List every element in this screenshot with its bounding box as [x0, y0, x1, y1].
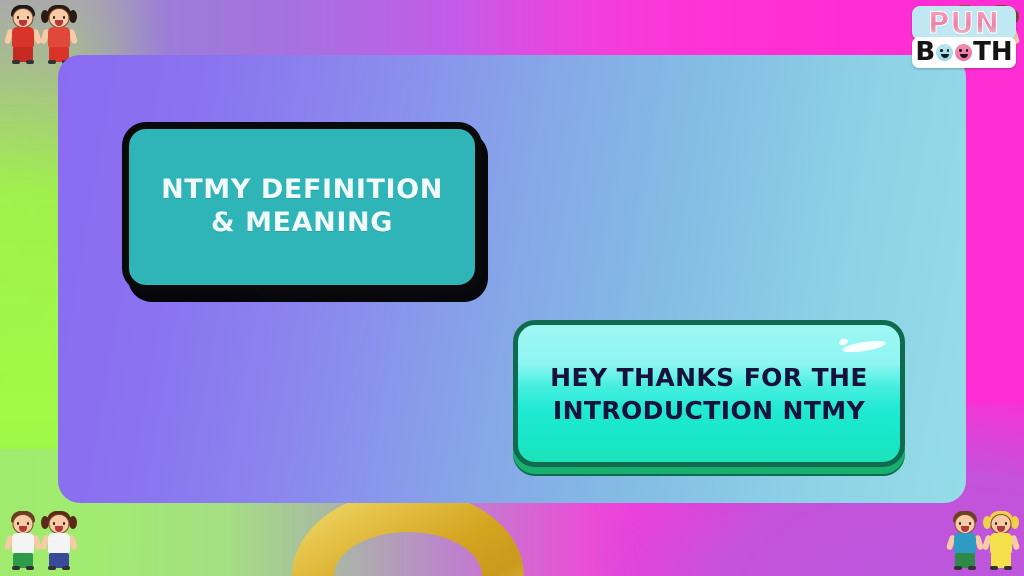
- child-figure: [42, 510, 76, 570]
- torso: [990, 533, 1012, 554]
- answer-text: HEY THANKS FOR THE INTRODUCTION NTMY: [532, 361, 886, 427]
- eye-right: [969, 522, 971, 525]
- shoe-left: [954, 566, 962, 570]
- eye-left: [17, 522, 19, 525]
- smiley-mouth: [960, 54, 968, 58]
- shoe-left: [48, 60, 56, 64]
- corner-art-bottom-left: [6, 510, 76, 570]
- shoe-right: [26, 60, 34, 64]
- content-card: NTMY DEFINITION & MEANING HEY THANKS FOR…: [58, 55, 966, 503]
- shoe-left: [48, 566, 56, 570]
- corner-art-bottom-right: [948, 510, 1018, 570]
- torso: [12, 533, 34, 554]
- logo-word-pun: PUN: [912, 6, 1016, 40]
- torso: [954, 533, 976, 554]
- smiley-eye-right: [947, 49, 950, 52]
- smiley-eye-left: [959, 49, 962, 52]
- eye-right: [1005, 522, 1007, 525]
- eye-left: [995, 522, 997, 525]
- shoe-left: [12, 566, 20, 570]
- shoe-left: [990, 566, 998, 570]
- eye-left: [959, 522, 961, 525]
- eye-right: [27, 522, 29, 525]
- shoe-right: [26, 566, 34, 570]
- logo-letter-b: B: [915, 39, 935, 65]
- eye-left: [17, 16, 19, 19]
- smiley-eye-left: [940, 49, 943, 52]
- logo-letter-t: T: [973, 39, 991, 65]
- eye-left: [53, 522, 55, 525]
- smiley-face-icon-blue: [936, 44, 953, 61]
- eye-right: [63, 16, 65, 19]
- shoe-left: [12, 60, 20, 64]
- smiley-eye-right: [966, 49, 969, 52]
- answer-card: HEY THANKS FOR THE INTRODUCTION NTMY: [513, 320, 905, 467]
- corner-art-top-left: [6, 4, 76, 64]
- torso: [48, 533, 70, 554]
- torso: [12, 27, 34, 48]
- child-figure: [948, 510, 982, 570]
- logo-word-booth: B T H: [912, 37, 1016, 68]
- page-title: NTMY DEFINITION & MEANING: [145, 174, 459, 240]
- smiley-mouth: [941, 54, 949, 58]
- eye-right: [63, 522, 65, 525]
- shoe-right: [62, 566, 70, 570]
- eye-right: [27, 16, 29, 19]
- logo-letter-h: H: [991, 39, 1013, 65]
- punbooth-logo[interactable]: PUN B T H: [912, 6, 1016, 68]
- shoe-right: [1004, 566, 1012, 570]
- title-card: NTMY DEFINITION & MEANING: [122, 122, 482, 292]
- shoe-right: [968, 566, 976, 570]
- child-figure: [984, 510, 1018, 570]
- child-figure: [42, 4, 76, 64]
- eye-left: [53, 16, 55, 19]
- logo-pun-text: PUN: [928, 6, 1000, 40]
- child-figure: [6, 510, 40, 570]
- torso: [48, 27, 70, 48]
- child-figure: [6, 4, 40, 64]
- smiley-face-icon-pink: [955, 44, 972, 61]
- gloss-highlight-large: [842, 339, 887, 355]
